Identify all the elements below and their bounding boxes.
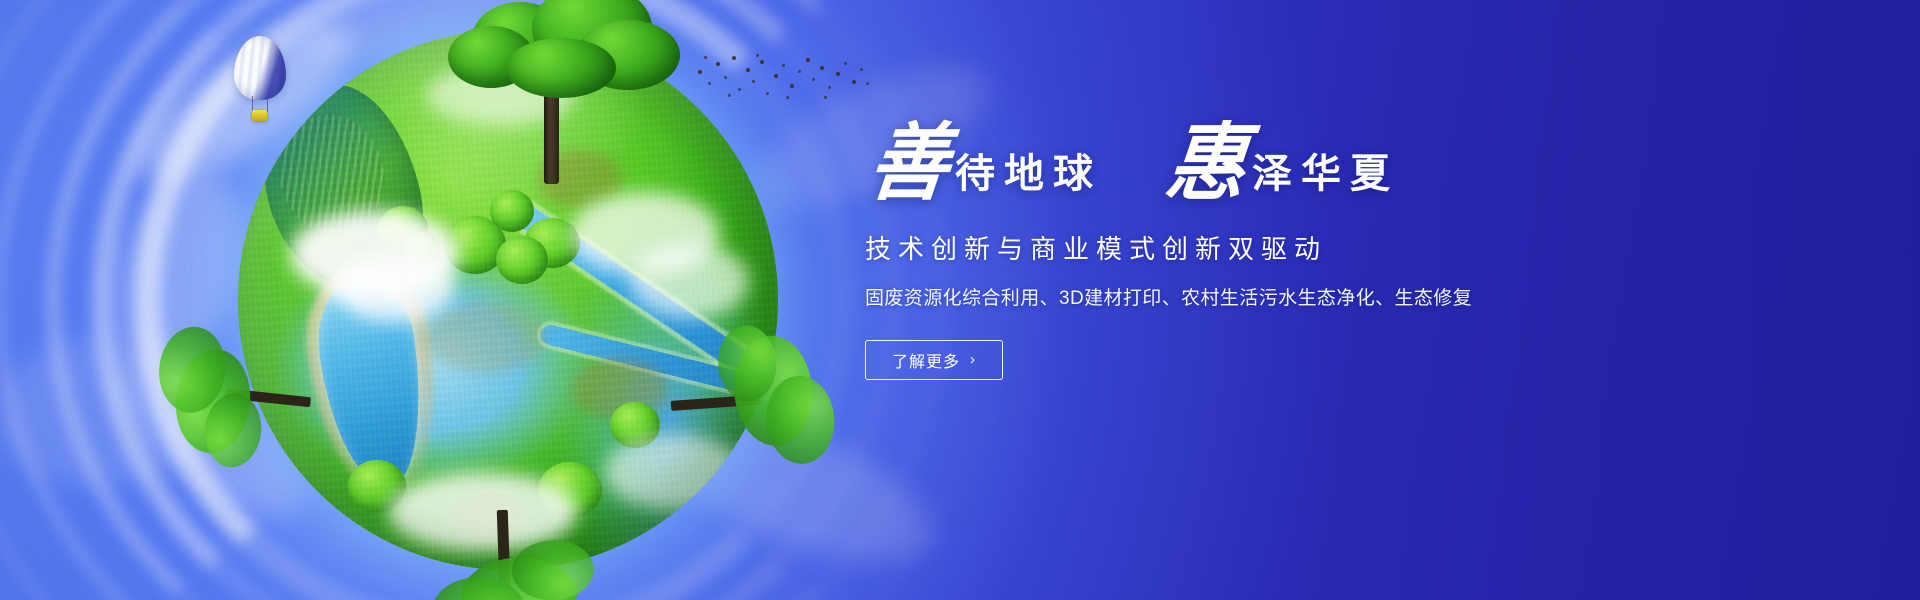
headline-big-char-2: 惠: [1162, 122, 1259, 206]
lake-shore: [296, 259, 452, 510]
description-text: 固废资源化综合利用、3D建材打印、农村生活污水生态净化、生态修复: [865, 287, 1745, 312]
headline-small-text-1: 待地球: [951, 154, 1102, 194]
bush-icon: [496, 236, 548, 284]
balloon-basket: [252, 110, 267, 121]
cloud-icon: [290, 210, 460, 298]
headline: 善 待地球 惠 泽华夏: [865, 128, 1745, 206]
soil-patch: [426, 302, 546, 372]
soil-patch: [572, 358, 668, 420]
learn-more-label: 了解更多: [892, 348, 960, 372]
bush-icon: [404, 232, 440, 266]
cloud-icon: [630, 244, 750, 318]
headline-big-char-1: 善: [865, 122, 962, 206]
hero-banner: 善 待地球 惠 泽华夏 技术创新与商业模式创新双驱动 固废资源化综合利用、3D建…: [0, 0, 1920, 600]
tree-icon: [139, 305, 325, 482]
bush-icon: [444, 216, 506, 274]
bush-icon: [378, 206, 428, 252]
tree-canopy: [506, 38, 616, 98]
headline-group-1: 善 待地球: [865, 128, 1102, 206]
headline-small-text-2: 泽华夏: [1248, 154, 1399, 194]
lake-icon: [310, 272, 434, 493]
tree-icon: [659, 311, 850, 493]
tree-icon: [436, 0, 686, 130]
bush-icon: [348, 460, 406, 512]
chevron-right-icon: ›: [970, 352, 976, 367]
bush-icon: [524, 218, 580, 268]
cloud-icon: [570, 192, 720, 276]
headline-group-2: 惠 泽华夏: [1162, 128, 1399, 206]
green-earth-globe: [238, 30, 778, 570]
bush-icon: [490, 190, 534, 232]
banner-content: 善 待地球 惠 泽华夏 技术创新与商业模式创新双驱动 固废资源化综合利用、3D建…: [865, 128, 1745, 380]
learn-more-button[interactable]: 了解更多 ›: [865, 340, 1003, 380]
bird-flock-icon: [694, 48, 870, 106]
subheading: 技术创新与商业模式创新双驱动: [865, 234, 1745, 265]
balloon-envelope: [234, 36, 286, 100]
cloud-icon: [334, 252, 454, 322]
hot-air-balloon-icon: [234, 36, 288, 132]
tree-icon: [405, 497, 600, 600]
bush-icon: [610, 402, 660, 448]
tree-canopy: [511, 539, 595, 600]
